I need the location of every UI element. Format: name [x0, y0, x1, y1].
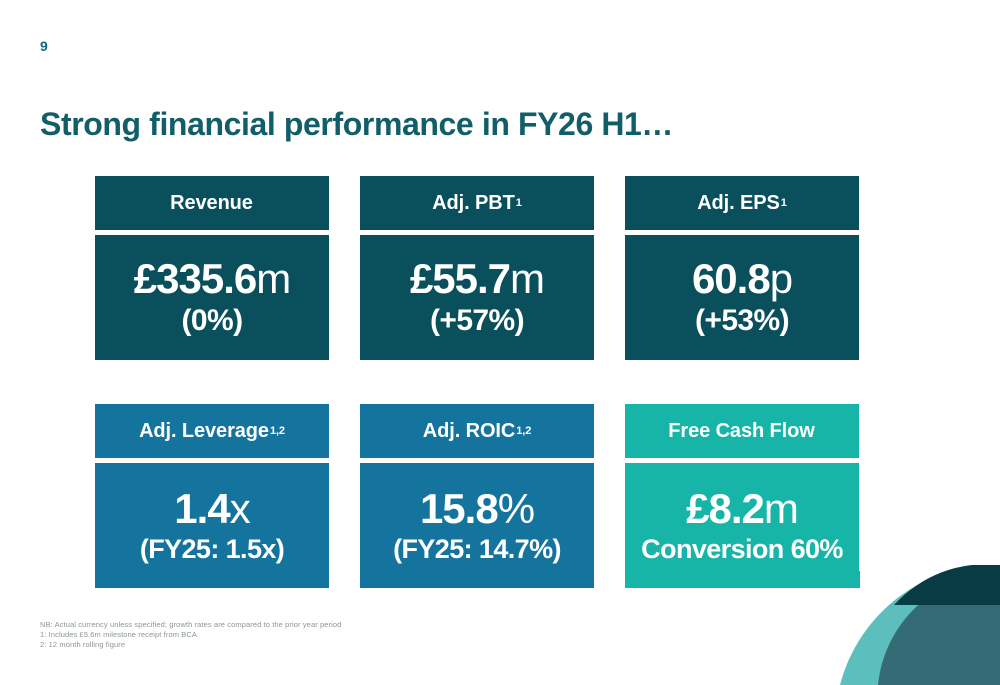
footnotes: NB: Actual currency unless specified; gr… [40, 620, 341, 650]
kpi-card-adj-leverage: Adj. Leverage1,2 1.4x (FY25: 1.5x) [95, 404, 329, 588]
kpi-sub-adj-pbt: (+57%) [430, 304, 524, 338]
kpi-value-unit-adj-eps: p [770, 255, 792, 302]
footnote-2: 2: 12 month rolling figure [40, 640, 341, 650]
kpi-label-adj-pbt: Adj. PBT [432, 192, 515, 215]
kpi-label-adj-roic: Adj. ROIC [423, 420, 515, 443]
kpi-card-revenue: Revenue £335.6m (0%) [95, 176, 329, 360]
kpi-value-unit-adj-roic: % [498, 485, 534, 532]
kpi-body-adj-eps: 60.8p (+53%) [625, 235, 859, 360]
kpi-sub-adj-leverage: (FY25: 1.5x) [140, 534, 284, 564]
kpi-header-adj-eps: Adj. EPS1 [625, 176, 859, 230]
kpi-body-revenue: £335.6m (0%) [95, 235, 329, 360]
kpi-value-number-adj-roic: 15.8 [420, 485, 498, 532]
kpi-card-free-cash-flow: Free Cash Flow £8.2m Conversion 60% [625, 404, 859, 588]
corner-accent-swatch [790, 571, 860, 588]
kpi-value-number-adj-pbt: £55.7 [410, 255, 510, 302]
kpi-header-free-cash-flow: Free Cash Flow [625, 404, 859, 458]
kpi-header-revenue: Revenue [95, 176, 329, 230]
kpi-sub-revenue: (0%) [182, 304, 243, 338]
kpi-value-adj-leverage: 1.4x [174, 487, 249, 532]
kpi-sub-adj-eps: (+53%) [695, 304, 789, 338]
kpi-header-adj-pbt: Adj. PBT1 [360, 176, 594, 230]
footnote-1: 1: Includes £5.6m milestone receipt from… [40, 630, 341, 640]
kpi-body-adj-pbt: £55.7m (+57%) [360, 235, 594, 360]
light-teal-arc [840, 565, 1000, 685]
kpi-body-free-cash-flow: £8.2m Conversion 60% [625, 463, 859, 588]
kpi-sub-adj-roic: (FY25: 14.7%) [393, 534, 561, 564]
kpi-label-adj-eps: Adj. EPS [697, 192, 780, 215]
dark-teal-arc [894, 565, 1000, 605]
kpi-value-adj-roic: 15.8% [420, 487, 534, 532]
kpi-value-number-revenue: £335.6 [134, 255, 256, 302]
footnote-nb: NB: Actual currency unless specified; gr… [40, 620, 341, 630]
kpi-card-adj-eps: Adj. EPS1 60.8p (+53%) [625, 176, 859, 360]
kpi-card-adj-pbt: Adj. PBT1 £55.7m (+57%) [360, 176, 594, 360]
page-title: Strong financial performance in FY26 H1… [40, 106, 673, 143]
kpi-header-adj-roic: Adj. ROIC1,2 [360, 404, 594, 458]
kpi-value-free-cash-flow: £8.2m [686, 487, 798, 532]
kpi-value-adj-pbt: £55.7m [410, 257, 544, 302]
kpi-value-number-free-cash-flow: £8.2 [686, 485, 764, 532]
slide-canvas: 9 Strong financial performance in FY26 H… [0, 0, 1000, 685]
kpi-value-unit-free-cash-flow: m [764, 485, 798, 532]
kpi-value-adj-eps: 60.8p [692, 257, 792, 302]
kpi-value-unit-revenue: m [256, 255, 290, 302]
kpi-grid: Revenue £335.6m (0%) Adj. PBT1 £55.7m (+… [95, 176, 858, 588]
kpi-value-unit-adj-pbt: m [510, 255, 544, 302]
kpi-header-adj-leverage: Adj. Leverage1,2 [95, 404, 329, 458]
kpi-body-adj-roic: 15.8% (FY25: 14.7%) [360, 463, 594, 588]
slate-arc [878, 573, 1000, 685]
kpi-label-free-cash-flow: Free Cash Flow [668, 420, 814, 443]
page-number: 9 [40, 38, 48, 54]
kpi-body-adj-leverage: 1.4x (FY25: 1.5x) [95, 463, 329, 588]
kpi-value-number-adj-eps: 60.8 [692, 255, 770, 302]
kpi-label-adj-leverage: Adj. Leverage [139, 420, 269, 443]
kpi-value-revenue: £335.6m [134, 257, 290, 302]
kpi-sub-free-cash-flow: Conversion 60% [641, 534, 843, 564]
kpi-value-number-adj-leverage: 1.4 [174, 485, 229, 532]
kpi-card-adj-roic: Adj. ROIC1,2 15.8% (FY25: 14.7%) [360, 404, 594, 588]
kpi-value-unit-adj-leverage: x [230, 485, 250, 532]
kpi-label-revenue: Revenue [170, 192, 253, 215]
